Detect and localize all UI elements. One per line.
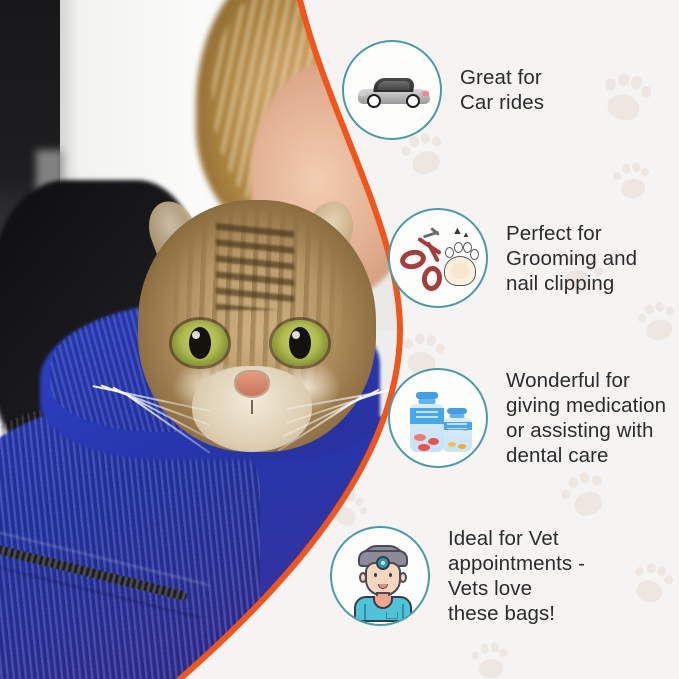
medicine-bottles-icon — [388, 368, 488, 468]
large-pill-bottle — [410, 392, 444, 452]
car-icon — [342, 40, 442, 140]
product-feature-infographic: Great for Car rides ▲ ▲ — [0, 0, 679, 679]
feature-item-medication[interactable]: Wonderful for giving medication or assis… — [388, 368, 666, 468]
feature-item-grooming[interactable]: ▲ ▲ — [388, 208, 637, 308]
cat-forehead-markings — [216, 222, 294, 310]
feature-label: Wonderful for giving medication or assis… — [506, 368, 666, 468]
small-pill-bottle — [442, 408, 472, 452]
veterinarian-icon — [330, 526, 430, 626]
feature-label: Ideal for Vet appointments - Vets love t… — [448, 526, 585, 626]
feature-label: Perfect for Grooming and nail clipping — [506, 221, 637, 296]
feature-item-car-rides[interactable]: Great for Car rides — [342, 40, 544, 140]
feature-list: Great for Car rides ▲ ▲ — [330, 0, 679, 679]
cat-eye-left — [172, 320, 228, 366]
feature-item-vet-appointments[interactable]: Ideal for Vet appointments - Vets love t… — [330, 526, 585, 626]
feature-label: Great for Car rides — [460, 65, 544, 115]
cat-eye-right — [272, 320, 328, 366]
nail-clipper-paw-icon: ▲ ▲ — [388, 208, 488, 308]
